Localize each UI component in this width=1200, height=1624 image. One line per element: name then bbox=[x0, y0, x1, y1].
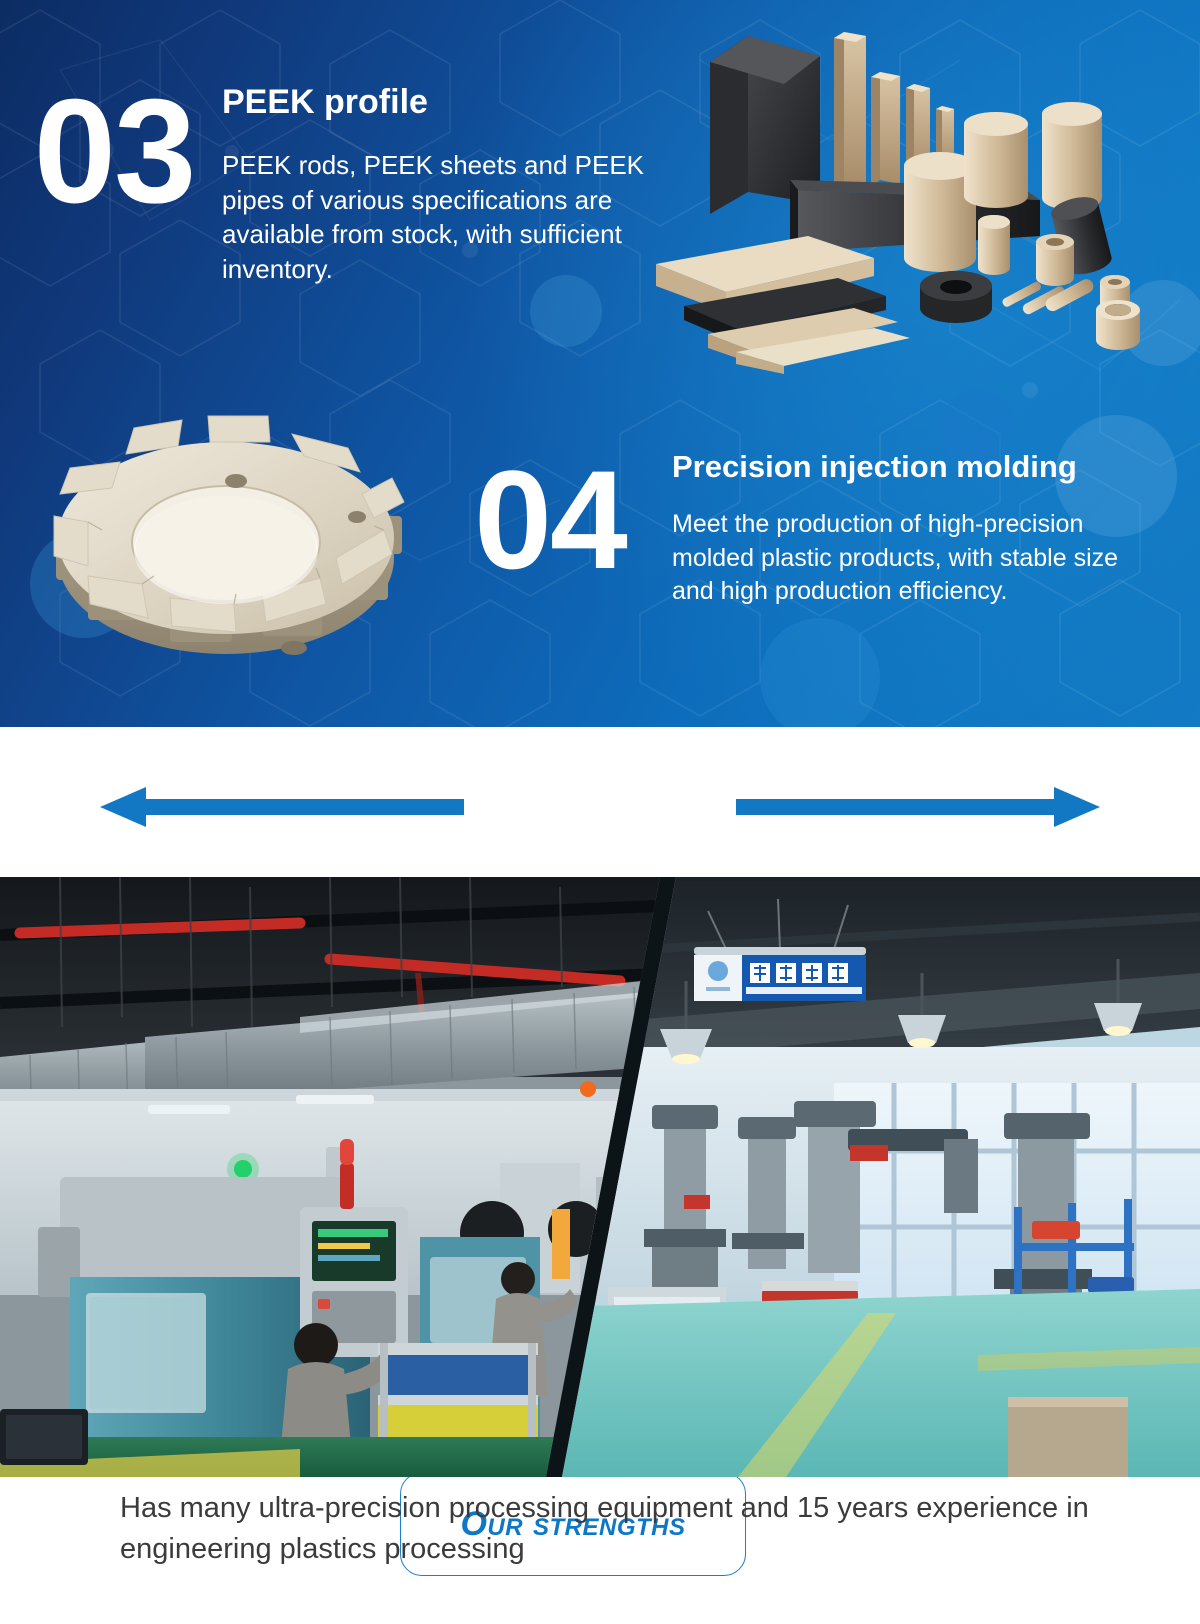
step-description-precision-injection-molding: Meet the production of high-precision mo… bbox=[672, 508, 1142, 609]
our-strengths-section: Our strengths bbox=[0, 727, 1200, 877]
decor-bubble-6 bbox=[760, 618, 880, 727]
factory-photo-strip bbox=[0, 877, 1200, 1477]
promo-page: 03 PEEK profile PEEK rods, PEEK sheets a… bbox=[0, 0, 1200, 1624]
peek-profile-product-image bbox=[648, 14, 1168, 374]
step-number-03: 03 bbox=[24, 78, 204, 226]
step-title-peek-profile: PEEK profile bbox=[222, 84, 692, 121]
bottom-caption: Has many ultra-precision processing equi… bbox=[120, 1488, 1110, 1570]
step-number-04: 04 bbox=[455, 450, 645, 590]
precision-molded-gear-ring-image bbox=[30, 398, 430, 680]
photo-cnc-workshop bbox=[0, 877, 680, 1477]
double-arrow-icon bbox=[100, 787, 1100, 827]
hero-panel: 03 PEEK profile PEEK rods, PEEK sheets a… bbox=[0, 0, 1200, 727]
step-title-precision-injection-molding: Precision injection molding bbox=[672, 450, 1192, 484]
step-description-peek-profile: PEEK rods, PEEK sheets and PEEK pipes of… bbox=[222, 148, 662, 286]
photo-mold-workshop bbox=[548, 877, 1200, 1477]
